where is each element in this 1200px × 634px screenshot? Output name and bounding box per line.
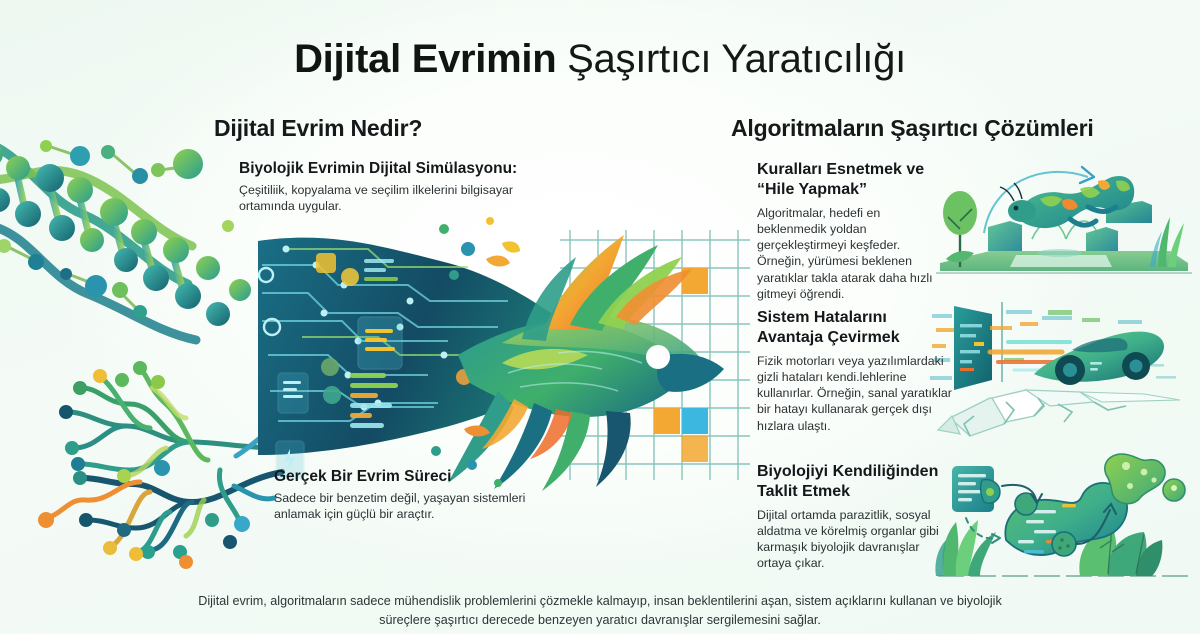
infographic-canvas: Dijital Evrimin Şaşırtıcı Yaratıcılığı D… [0,0,1200,634]
title-light-part: Şaşırtıcı Yaratıcılığı [567,37,906,81]
left-block-real-process-heading: Gerçek Bir Evrim Süreci [274,468,544,487]
right-block-system-errors: Sistem Hatalarını Avantaja Çevirmek Fizi… [757,308,952,434]
somersaulting-creature-illustration [930,155,1198,290]
right-block-mimicking-biology-body: Dijital ortamda parazitlik, sosyal aldat… [757,507,952,572]
title-bold-part: Dijital Evrimin [294,37,556,81]
dna-double-helix-illustration [0,118,282,378]
car-through-glitched-screen-illustration [930,298,1198,443]
right-column-heading: Algoritmaların Şaşırtıcı Çözümleri [731,115,1094,142]
left-block-real-process: Gerçek Bir Evrim Süreci Sadece bir benze… [274,468,544,522]
right-block-bending-rules: Kuralları Esnetmek ve “Hile Yapmak” Algo… [757,160,947,302]
left-block-simulation-heading: Biyolojik Evrimin Dijital Simülasyonu: [239,160,539,179]
circuit-to-organism-illustration [258,205,728,495]
evolving-organism-illustration [930,448,1198,593]
circuit-branching-tree-illustration [0,352,290,592]
left-block-simulation-body: Çeşitiliik, kopyalama ve seçilim ilkeler… [239,182,539,214]
right-block-bending-rules-body: Algoritmalar, hedefi en beklenmedik yold… [757,205,947,302]
left-block-real-process-body: Sadece bir benzetim değil, yaşayan siste… [274,490,544,522]
footer-summary: Dijital evrim, algoritmaların sadece müh… [190,592,1010,630]
right-block-mimicking-biology: Biyolojiyi Kendiliğinden Taklit Etmek Di… [757,462,952,572]
page-title: Dijital Evrimin Şaşırtıcı Yaratıcılığı [0,37,1200,82]
left-column-heading: Dijital Evrim Nedir? [214,115,422,142]
right-block-system-errors-heading: Sistem Hatalarını Avantaja Çevirmek [757,308,952,348]
left-block-simulation: Biyolojik Evrimin Dijital Simülasyonu: Ç… [239,160,539,214]
right-block-mimicking-biology-heading: Biyolojiyi Kendiliğinden Taklit Etmek [757,462,952,502]
right-block-system-errors-body: Fizik motorları veya yazılımlardaki gizl… [757,353,952,434]
teal-grid-backdrop [560,230,750,480]
right-block-bending-rules-heading: Kuralları Esnetmek ve “Hile Yapmak” [757,160,947,200]
